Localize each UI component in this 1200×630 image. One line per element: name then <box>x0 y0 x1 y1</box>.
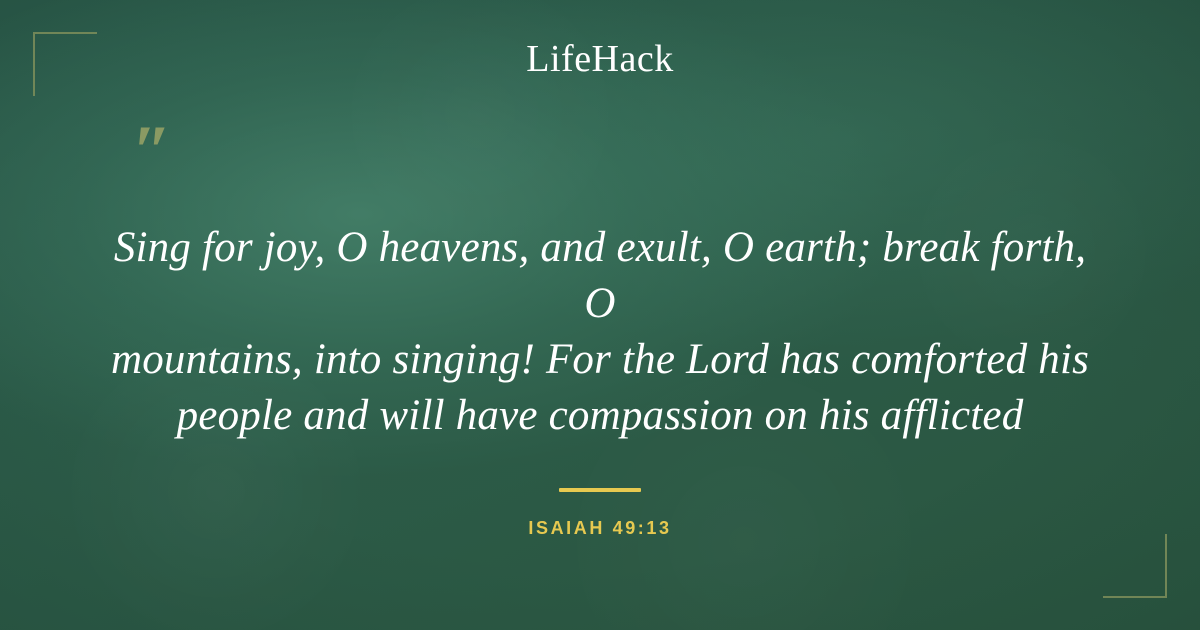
quote-line: Sing for joy, O heavens, and exult, O ea… <box>100 220 1100 332</box>
quote-block: ″ Sing for joy, O heavens, and exult, O … <box>0 130 1200 539</box>
quotation-mark-icon: ″ <box>0 130 1200 184</box>
quote-line: people and will have compassion on his a… <box>100 388 1100 444</box>
brand-logo-text: LifeHack <box>526 40 673 78</box>
corner-bracket-bottom-right-icon <box>1103 534 1167 598</box>
quote-line: mountains, into singing! For the Lord ha… <box>100 332 1100 388</box>
quote-card: LifeHack ″ Sing for joy, O heavens, and … <box>0 0 1200 630</box>
quote-attribution: ISAIAH 49:13 <box>0 518 1200 539</box>
gold-divider <box>559 488 641 492</box>
brand-header: LifeHack <box>0 40 1200 78</box>
quote-text: Sing for joy, O heavens, and exult, O ea… <box>100 220 1100 444</box>
